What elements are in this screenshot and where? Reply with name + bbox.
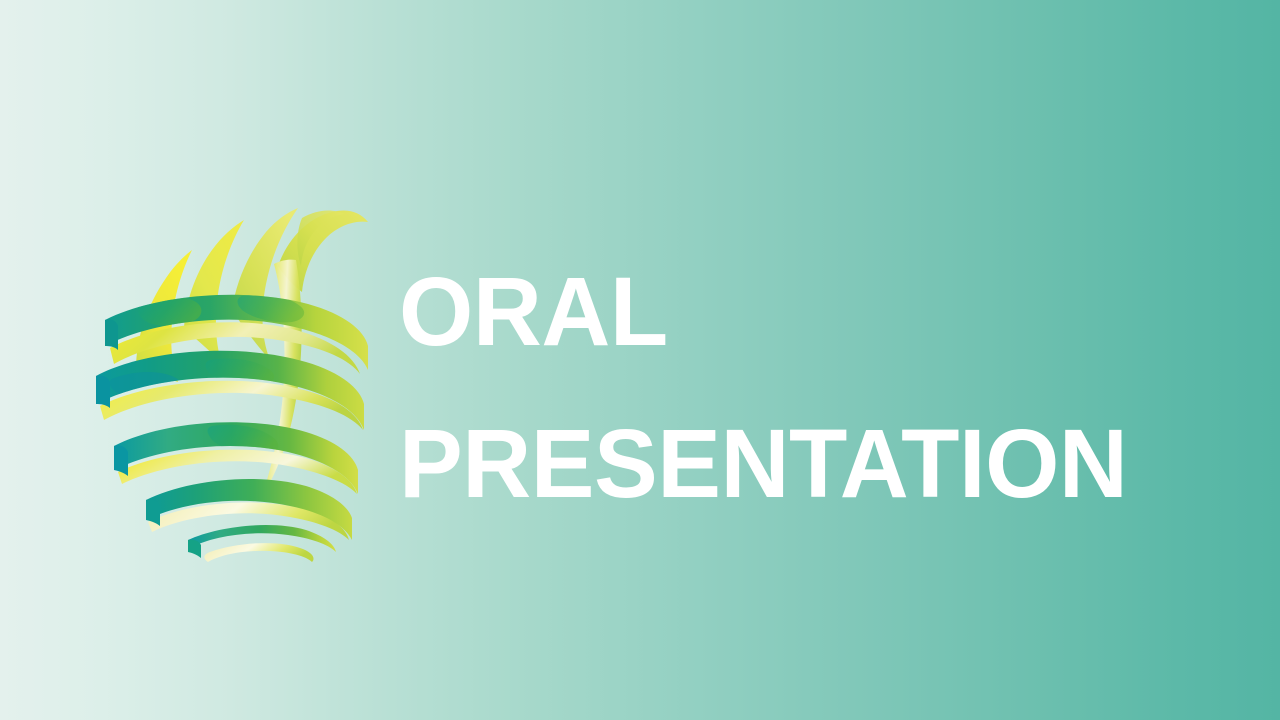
logo-edge-teal-2 [96,375,110,408]
title-line-oral: ORAL [399,236,1217,388]
logo-globe-bands [96,208,368,562]
title-line-presentation: PRESENTATION [399,388,1217,540]
logo-edge-teal-1 [105,319,118,350]
spiral-globe-logo [92,200,377,520]
slide-title: ORAL PRESENTATION [399,236,1229,540]
logo-edge-teal-3 [114,445,128,476]
presentation-slide: ORAL PRESENTATION [0,0,1280,720]
logo-tail-second [184,220,244,364]
